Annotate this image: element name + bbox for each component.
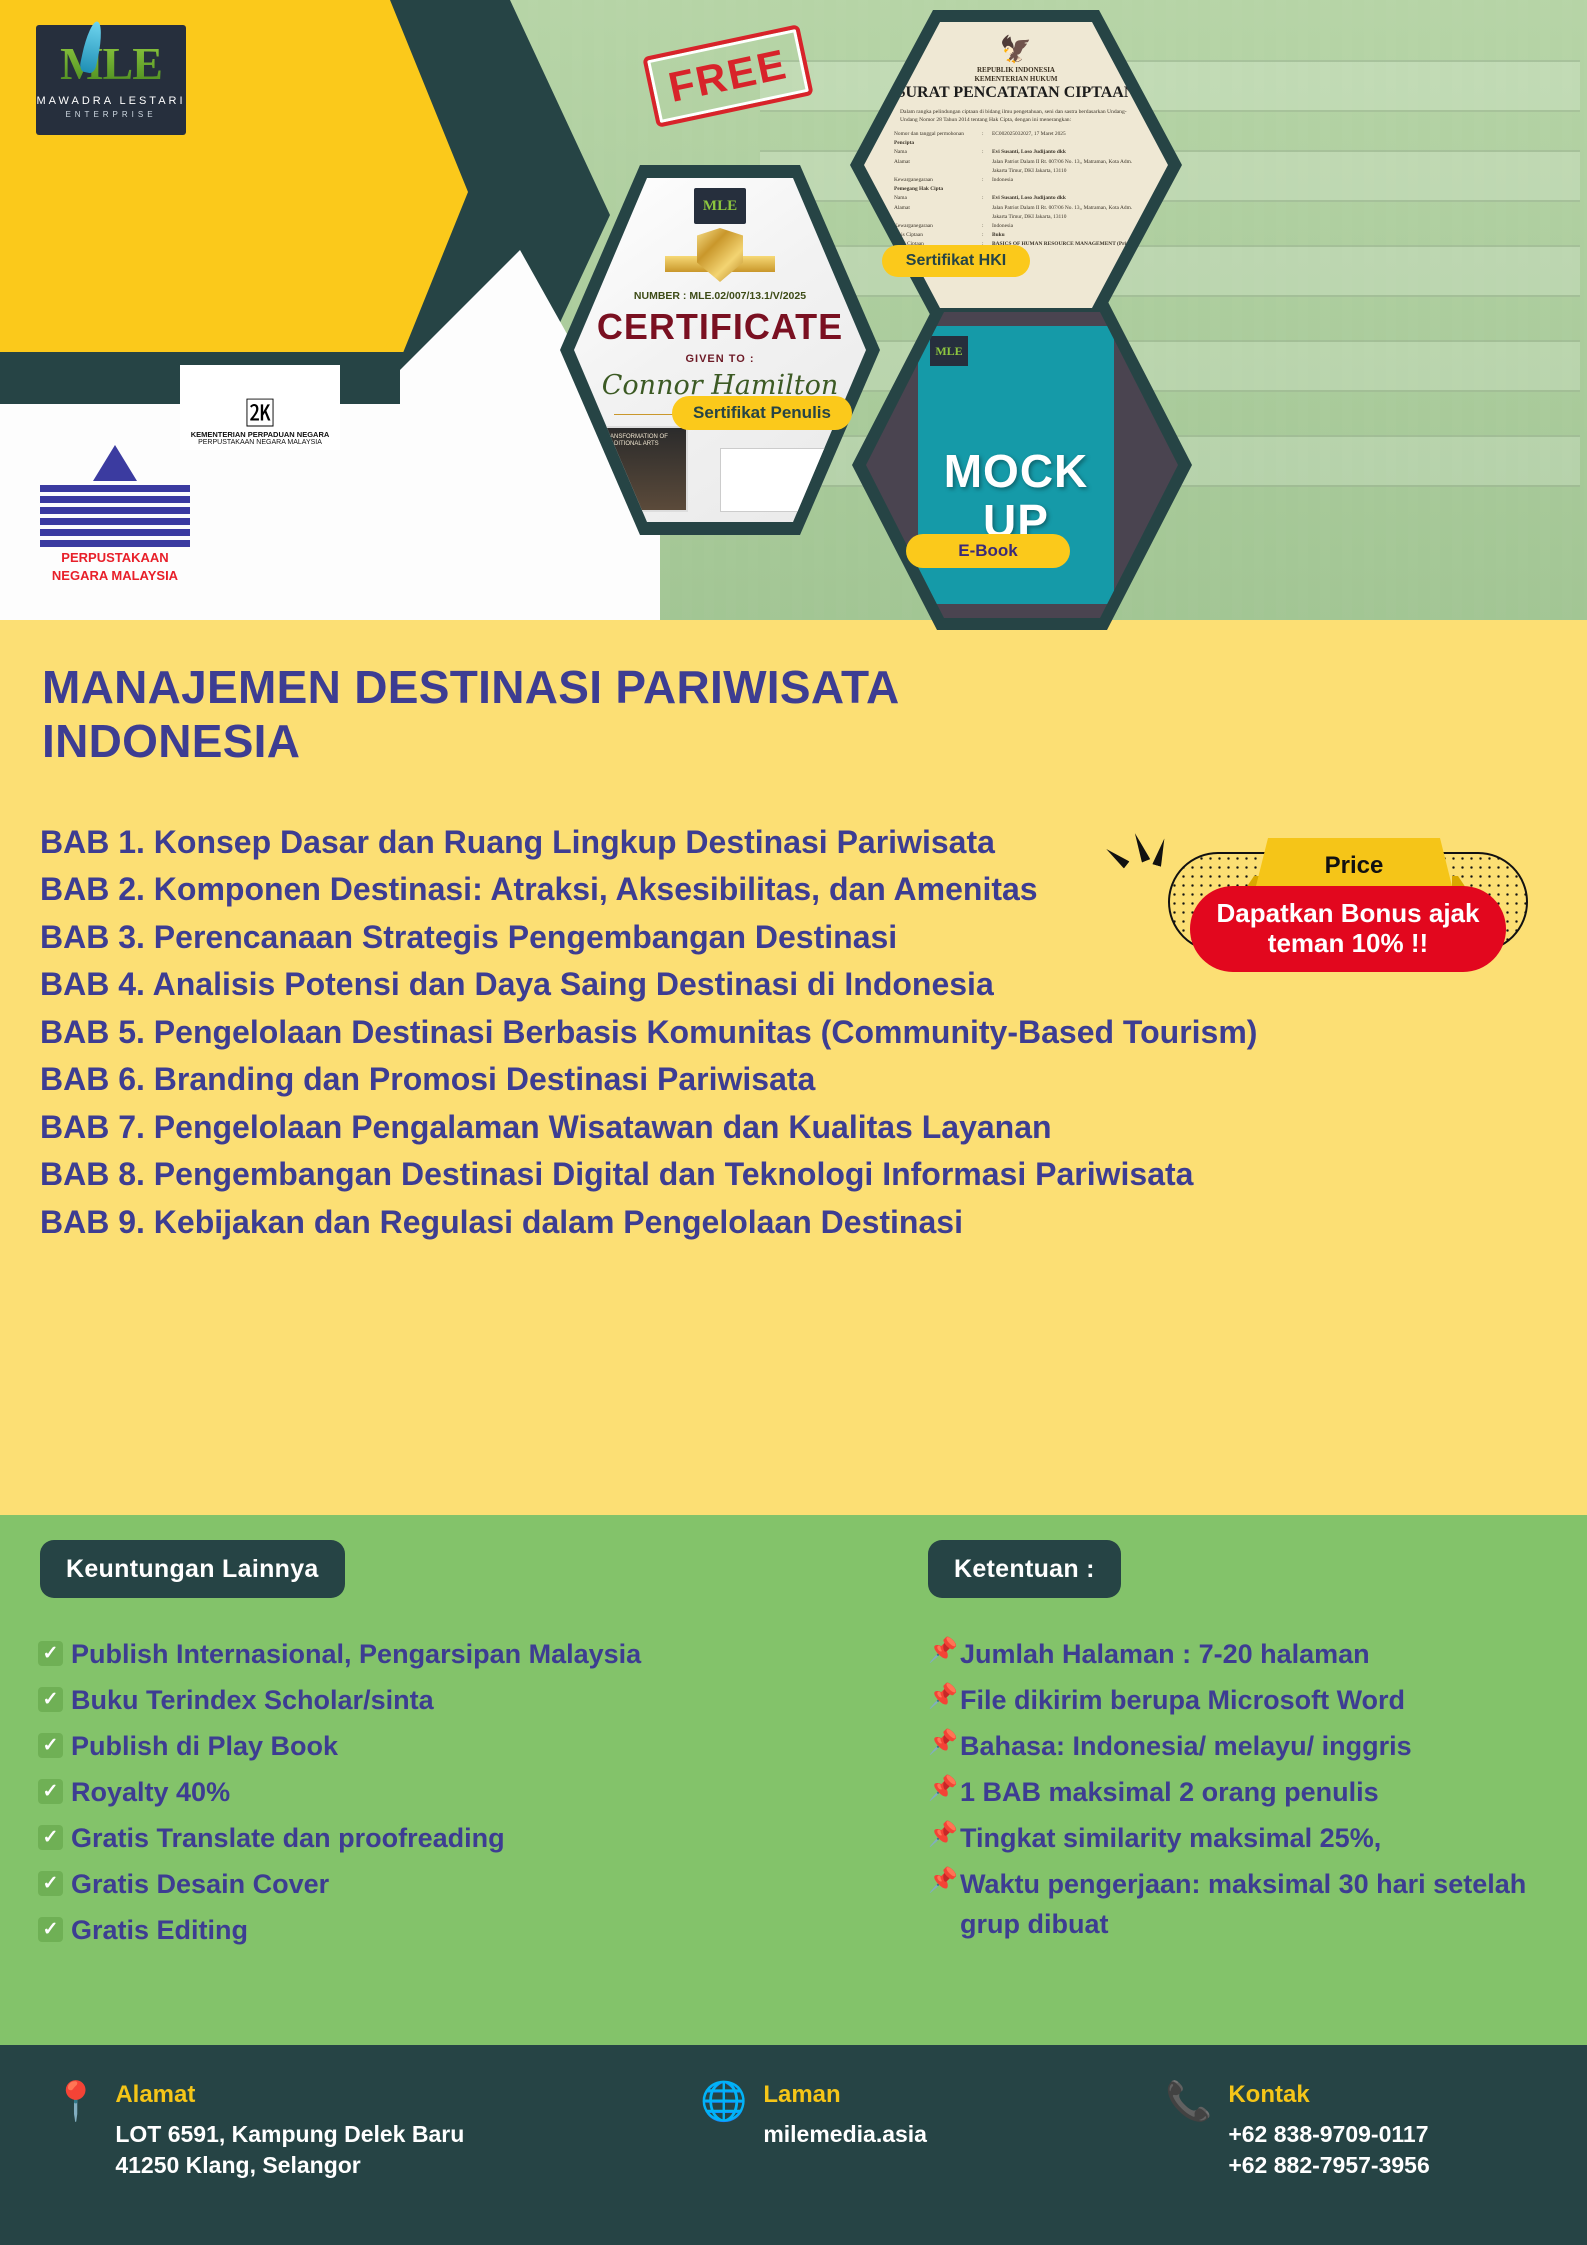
chapter-item: BAB 9. Kebijakan dan Regulasi dalam Peng… [40, 1200, 1560, 1245]
library-bar [40, 507, 190, 514]
hki-row: Kewarganegaraan:Indonesia [894, 222, 1148, 231]
library-triangle-icon [93, 445, 137, 481]
hki-row-key: Alamat [894, 204, 982, 222]
footer-contact-label: Kontak [1228, 2081, 1429, 2109]
check-icon: ✓ [38, 1733, 63, 1758]
check-icon: ✓ [38, 1641, 63, 1666]
hki-row-value: Evi Susanti, Loso Judijanto dkk [992, 194, 1148, 203]
term-label: Bahasa: Indonesia/ melayu/ inggris [960, 1727, 1412, 1767]
library-bar [40, 540, 190, 547]
kementerian-label-2: PERPUSTAKAAN NEGARA MALAYSIA [198, 439, 322, 446]
pushpin-icon: 📌 [928, 1821, 954, 1850]
term-item: 📌Bahasa: Indonesia/ melayu/ inggris [928, 1727, 1548, 1767]
benefit-label: Gratis Editing [71, 1911, 248, 1951]
kementerian-perpaduan-negara-logo: 🆝 KEMENTERIAN PERPADUAN NEGARA PERPUSTAK… [180, 365, 340, 450]
benefit-label: Publish di Play Book [71, 1727, 338, 1767]
library-bar [40, 496, 190, 503]
hki-paragraph: Dalam rangka pelindungan ciptaan di bida… [900, 108, 1144, 124]
term-item: 📌1 BAB maksimal 2 orang penulis [928, 1773, 1548, 1813]
benefit-label: Publish Internasional, Pengarsipan Malay… [71, 1635, 641, 1675]
malaysia-crest-icon: 🆝 [245, 400, 275, 430]
footer-contact-phone2[interactable]: +62 882-7957-3956 [1228, 2150, 1429, 2181]
hki-detail-rows: Nomor dan tanggal permohonan:EC002025032… [894, 130, 1148, 259]
hki-row-key: Pencipta [894, 139, 982, 148]
hki-row: Jenis Ciptaan:Buku [894, 231, 1148, 240]
footer-contact-phone1[interactable]: +62 838-9709-0117 [1228, 2119, 1429, 2150]
perpustakaan-negara-malaysia-logo: PERPUSTAKAAN NEGARA MALAYSIA [40, 445, 190, 582]
main-content: MANAJEMEN DESTINASI PARIWISATA INDONESIA… [0, 620, 1587, 1515]
footer-address-line2: 41250 Klang, Selangor [115, 2150, 464, 2181]
term-label: 1 BAB maksimal 2 orang penulis [960, 1773, 1379, 1813]
shield-icon [697, 228, 743, 282]
hki-row-key: Alamat [894, 158, 982, 176]
hki-row-key: Nama [894, 194, 982, 203]
phone-icon: 📞 [1165, 2083, 1212, 2121]
hki-row-value: Jalan Patriot Dalam II Rt. 007/06 No. 13… [992, 204, 1148, 222]
location-pin-icon: 📍 [52, 2083, 99, 2121]
free-stamp-label: FREE [664, 40, 791, 112]
terms-list: 📌Jumlah Halaman : 7-20 halaman 📌File dik… [928, 1635, 1548, 1951]
shelf-line [760, 340, 1580, 392]
mle-logo-mark: MLE [60, 41, 162, 87]
term-item: 📌File dikirim berupa Microsoft Word [928, 1681, 1548, 1721]
hki-row-value: Jalan Patriot Dalam II Rt. 007/06 No. 13… [992, 158, 1148, 176]
ebook-badge[interactable]: E-Book [906, 534, 1070, 568]
footer: 📍 Alamat LOT 6591, Kampung Delek Baru 41… [0, 2045, 1587, 2245]
term-label: File dikirim berupa Microsoft Word [960, 1681, 1405, 1721]
term-item: 📌Tingkat similarity maksimal 25%, [928, 1819, 1548, 1859]
hki-row-key: Kewarganegaraan [894, 176, 982, 185]
footer-website-value[interactable]: milemedia.asia [763, 2119, 927, 2150]
library-bar [40, 518, 190, 525]
benefit-item: ✓Gratis Desain Cover [38, 1865, 878, 1905]
hki-row-value: Indonesia [992, 222, 1148, 231]
hki-row: Nama:Evi Susanti, Loso Judijanto dkk [894, 194, 1148, 203]
check-icon: ✓ [38, 1917, 63, 1942]
garuda-icon: 🦅 [1000, 36, 1032, 62]
globe-icon: 🌐 [700, 2083, 747, 2121]
page-title: MANAJEMEN DESTINASI PARIWISATA INDONESIA [42, 660, 1152, 769]
sertifikat-hki-label: Sertifikat HKI [906, 252, 1006, 270]
benefit-item: ✓Gratis Editing [38, 1911, 878, 1951]
price-offer-text: Dapatkan Bonus ajak teman 10% !! [1190, 886, 1506, 972]
benefits-list: ✓Publish Internasional, Pengarsipan Mala… [38, 1635, 878, 1957]
benefit-item: ✓Royalty 40% [38, 1773, 878, 1813]
hki-row-value: Indonesia [992, 176, 1148, 185]
benefits-terms-section: Keuntungan Lainnya Ketentuan : ✓Publish … [0, 1515, 1587, 2045]
benefit-item: ✓Buku Terindex Scholar/sinta [38, 1681, 878, 1721]
hki-row: Nomor dan tanggal permohonan:EC002025032… [894, 130, 1148, 139]
hki-row: Nama:Evi Susanti, Loso Judijanto dkk [894, 148, 1148, 157]
sertifikat-hki-badge[interactable]: Sertifikat HKI [882, 245, 1030, 277]
benefit-item: ✓Gratis Translate dan proofreading [38, 1819, 878, 1859]
library-bar [40, 485, 190, 492]
chapter-item: BAB 8. Pengembangan Destinasi Digital da… [40, 1152, 1560, 1197]
footer-website-label: Laman [763, 2081, 927, 2109]
certificate-title: CERTIFICATE [574, 306, 866, 348]
term-label: Jumlah Halaman : 7-20 halaman [960, 1635, 1370, 1675]
footer-address-block: 📍 Alamat LOT 6591, Kampung Delek Baru 41… [52, 2081, 464, 2181]
mle-logo-line2: ENTERPRISE [65, 110, 156, 119]
pushpin-icon: 📌 [928, 1729, 954, 1758]
term-item: 📌Waktu pengerjaan: maksimal 30 hari sete… [928, 1865, 1548, 1945]
kementerian-label-1: KEMENTERIAN PERPADUAN NEGARA [191, 430, 330, 439]
hki-row-key: Pemegang Hak Cipta [894, 185, 982, 194]
hki-row-value: EC002025032027, 17 Maret 2025 [992, 130, 1148, 139]
chapter-item: BAB 6. Branding dan Promosi Destinasi Pa… [40, 1057, 1560, 1102]
hki-row: Pemegang Hak Cipta [894, 185, 1148, 194]
perpustakaan-label-1: PERPUSTAKAAN [40, 551, 190, 565]
mockup-line1: MOCK [918, 444, 1114, 498]
burst-spark-icon [1108, 832, 1178, 902]
pushpin-icon: 📌 [928, 1775, 954, 1804]
check-icon: ✓ [38, 1687, 63, 1712]
hki-row: Pencipta [894, 139, 1148, 148]
ebook-label: E-Book [958, 541, 1018, 561]
hero-banner: MLE MAWADRA LESTARI ENTERPRISE PERPUSTAK… [0, 0, 1587, 645]
term-label: Waktu pengerjaan: maksimal 30 hari setel… [960, 1865, 1548, 1945]
hki-row-value: Evi Susanti, Loso Judijanto dkk [992, 148, 1148, 157]
chapter-item: BAB 5. Pengelolaan Destinasi Berbasis Ko… [40, 1010, 1560, 1055]
certificate-given-to-label: GIVEN TO : [574, 353, 866, 365]
benefit-item: ✓Publish Internasional, Pengarsipan Mala… [38, 1635, 878, 1675]
term-item: 📌Jumlah Halaman : 7-20 halaman [928, 1635, 1548, 1675]
footer-address-label: Alamat [115, 2081, 464, 2109]
library-bar [40, 529, 190, 536]
footer-address-line1: LOT 6591, Kampung Delek Baru [115, 2119, 464, 2150]
pushpin-icon: 📌 [928, 1683, 954, 1712]
check-icon: ✓ [38, 1779, 63, 1804]
hki-row-key: Nomor dan tanggal permohonan [894, 130, 982, 139]
hki-row: AlamatJalan Patriot Dalam II Rt. 007/06 … [894, 158, 1148, 176]
price-promo-badge[interactable]: Price Dapatkan Bonus ajak teman 10% !! [1168, 838, 1528, 966]
sertifikat-penulis-badge[interactable]: Sertifikat Penulis [672, 396, 852, 430]
benefit-label: Gratis Desain Cover [71, 1865, 329, 1905]
footer-contact-block: 📞 Kontak +62 838-9709-0117 +62 882-7957-… [1165, 2081, 1430, 2181]
hki-title: SURAT PENCATATAN CIPTAAN [864, 84, 1168, 102]
certificate-mle-logo: MLE [694, 188, 746, 224]
terms-heading: Ketentuan : [928, 1540, 1121, 1598]
benefit-label: Buku Terindex Scholar/sinta [71, 1681, 434, 1721]
mockup-mle-logo: MLE [930, 336, 968, 366]
pushpin-icon: 📌 [928, 1637, 954, 1666]
perpustakaan-label-2: NEGARA MALAYSIA [40, 569, 190, 583]
benefit-label: Gratis Translate dan proofreading [71, 1819, 505, 1859]
footer-website-block: 🌐 Laman milemedia.asia [700, 2081, 927, 2150]
benefit-item: ✓Publish di Play Book [38, 1727, 878, 1767]
hki-row-value: Buku [992, 231, 1148, 240]
mle-logo: MLE MAWADRA LESTARI ENTERPRISE [36, 25, 186, 135]
hki-row-key: Nama [894, 148, 982, 157]
sertifikat-penulis-label: Sertifikat Penulis [693, 403, 831, 423]
chapter-item: BAB 7. Pengelolaan Pengalaman Wisatawan … [40, 1105, 1560, 1150]
benefits-heading: Keuntungan Lainnya [40, 1540, 345, 1598]
hki-row-key: Kewarganegaraan [894, 222, 982, 231]
hki-row: Kewarganegaraan:Indonesia [894, 176, 1148, 185]
certificate-number: NUMBER : MLE.02/007/13.1/V/2025 [574, 290, 866, 302]
mle-logo-line1: MAWADRA LESTARI [36, 95, 185, 107]
pushpin-icon: 📌 [928, 1867, 954, 1896]
check-icon: ✓ [38, 1871, 63, 1896]
hki-row-key: Jenis Ciptaan [894, 231, 982, 240]
check-icon: ✓ [38, 1825, 63, 1850]
hki-row: AlamatJalan Patriot Dalam II Rt. 007/06 … [894, 204, 1148, 222]
benefit-label: Royalty 40% [71, 1773, 230, 1813]
term-label: Tingkat similarity maksimal 25%, [960, 1819, 1381, 1859]
